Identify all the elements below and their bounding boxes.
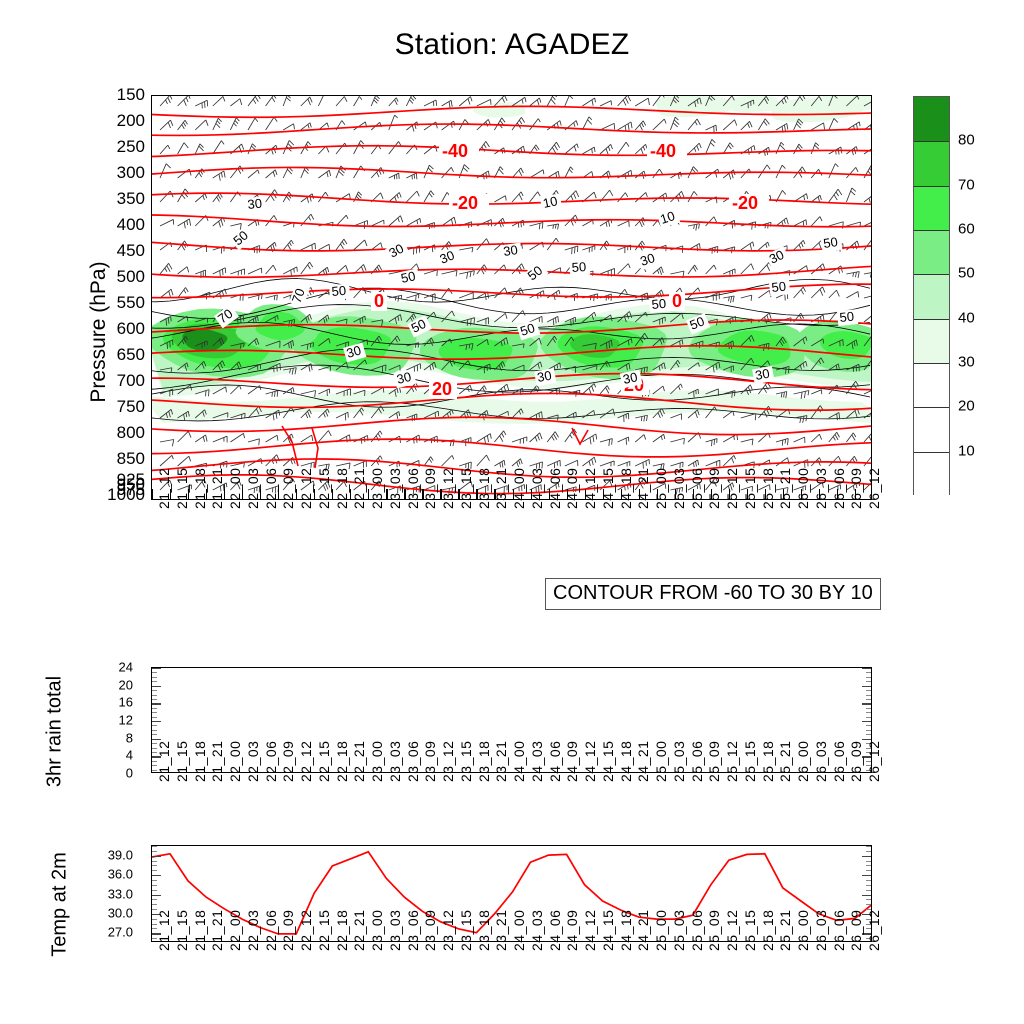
rain-tick xyxy=(152,725,157,726)
colorbar-segment xyxy=(914,141,949,185)
x-tick-label: 25_18 xyxy=(760,910,776,951)
svg-text:30: 30 xyxy=(536,368,553,385)
temp-tick-label: 36.0 xyxy=(108,867,133,882)
rain-tick xyxy=(866,672,871,673)
rain-y-axis: 24201612840 xyxy=(85,667,133,773)
x-tick-label: 21_15 xyxy=(174,910,190,951)
temp-tick xyxy=(862,895,871,896)
x-tick-label: 25_12 xyxy=(724,741,740,782)
x-tick-label: 25_09 xyxy=(706,741,722,782)
x-tick-label: 25_09 xyxy=(706,910,722,951)
x-tick-label: 24_18 xyxy=(618,910,634,951)
x-tick-label: 24_12 xyxy=(582,910,598,951)
svg-text:-20: -20 xyxy=(452,193,478,213)
svg-text:30: 30 xyxy=(247,196,263,212)
rain-tick xyxy=(152,699,157,700)
x-tick-label: 24_12 xyxy=(582,468,598,509)
x-tick-label: 24_00 xyxy=(511,468,527,509)
temp-tick xyxy=(152,865,157,866)
x-tick-label: 25_03 xyxy=(671,741,687,782)
rain-tick-label: 16 xyxy=(119,695,133,710)
x-tick-label: 24_06 xyxy=(547,468,563,509)
x-tick-label: 22_00 xyxy=(227,468,243,509)
temp-tick xyxy=(152,880,157,881)
x-tick-label: 21_18 xyxy=(192,468,208,509)
x-tick-label: 23_15 xyxy=(458,741,474,782)
page-title: Station: AGADEZ xyxy=(0,28,1024,62)
temp-tick xyxy=(866,904,871,905)
x-tick-label: 25_15 xyxy=(742,741,758,782)
colorbar-tick-label: 70 xyxy=(958,176,975,193)
svg-text:-40: -40 xyxy=(650,141,676,161)
x-tick-label: 22_06 xyxy=(263,910,279,951)
rain-tick xyxy=(866,725,871,726)
cross-section-svg: -40-40-20-200020203030305050505050707050… xyxy=(152,96,872,500)
temp-tick xyxy=(152,856,161,857)
x-tick-label: 26_00 xyxy=(795,468,811,509)
rain-tick xyxy=(152,686,161,687)
x-tick-label: 24_00 xyxy=(511,910,527,951)
x-tick-label: 23_06 xyxy=(405,910,421,951)
x-tick-label: 25_00 xyxy=(653,468,669,509)
temp-tick xyxy=(152,890,157,891)
x-tick-label: 22_03 xyxy=(245,741,261,782)
svg-text:50: 50 xyxy=(839,309,855,325)
svg-text:50: 50 xyxy=(651,296,667,312)
rain-tick xyxy=(866,734,871,735)
x-tick-label: 25_09 xyxy=(706,468,722,509)
colorbar-tick-label: 20 xyxy=(958,398,975,415)
temp-tick xyxy=(866,890,871,891)
temp-tick xyxy=(866,899,871,900)
temp-panel-label: Temp at 2m xyxy=(49,815,72,995)
x-tick-label: 24_18 xyxy=(618,468,634,509)
x-tick-label: 26_03 xyxy=(813,910,829,951)
x-tick-label: 24_21 xyxy=(635,741,651,782)
x-tick-label: 24_03 xyxy=(529,741,545,782)
x-tick-label: 22_00 xyxy=(227,741,243,782)
rain-tick xyxy=(862,703,871,704)
x-tick-label: 22_03 xyxy=(245,910,261,951)
temp-tick xyxy=(152,899,157,900)
temp-tick xyxy=(866,846,871,847)
x-tick-label: 22_09 xyxy=(280,468,296,509)
rain-tick xyxy=(866,695,871,696)
rain-tick xyxy=(152,721,161,722)
rain-panel-label: 3hr rain total xyxy=(44,622,67,842)
x-tick-label: 25_00 xyxy=(653,910,669,951)
rain-tick xyxy=(152,672,157,673)
x-tick-label: 21_15 xyxy=(174,741,190,782)
x-tick-label: 24_06 xyxy=(547,741,563,782)
x-tick-mark xyxy=(152,489,153,499)
x-tick-label: 23_21 xyxy=(493,910,509,951)
svg-text:30: 30 xyxy=(502,242,518,259)
x-tick-label: 23_00 xyxy=(369,910,385,951)
temp-tick xyxy=(152,861,157,862)
rain-tick-label: 8 xyxy=(126,730,133,745)
temp-tick xyxy=(866,865,871,866)
x-tick-label: 22_15 xyxy=(316,910,332,951)
x-tick-label: 22_18 xyxy=(334,468,350,509)
rain-tick xyxy=(866,690,871,691)
temp-tick xyxy=(866,870,871,871)
svg-text:50: 50 xyxy=(822,234,838,251)
rain-tick xyxy=(866,708,871,709)
temp-tick xyxy=(152,870,157,871)
x-tick-label: 23_21 xyxy=(493,741,509,782)
x-tick-label: 22_06 xyxy=(263,741,279,782)
x-tick-label: 24_21 xyxy=(635,468,651,509)
rain-tick xyxy=(866,681,871,682)
x-tick-label: 23_18 xyxy=(476,910,492,951)
x-tick-label: 22_12 xyxy=(298,741,314,782)
rain-tick xyxy=(866,717,871,718)
x-tick-label: 25_06 xyxy=(689,741,705,782)
x-tick-label: 24_06 xyxy=(547,910,563,951)
x-tick-label: 24_15 xyxy=(600,468,616,509)
x-tick-label: 26_00 xyxy=(795,910,811,951)
rain-tick xyxy=(152,668,161,669)
colorbar-segment xyxy=(914,407,949,451)
x-tick-label: 24_15 xyxy=(600,910,616,951)
svg-text:0: 0 xyxy=(374,291,384,311)
x-tick-label: 24_12 xyxy=(582,741,598,782)
temp-tick xyxy=(152,895,161,896)
temp-tick xyxy=(152,904,157,905)
x-tick-label: 25_15 xyxy=(742,910,758,951)
temp-tick xyxy=(152,885,157,886)
x-tick-label: 22_12 xyxy=(298,468,314,509)
x-tick-label: 26_09 xyxy=(848,741,864,782)
colorbar-segment xyxy=(914,97,949,141)
x-tick-label: 25_12 xyxy=(724,910,740,951)
rain-tick xyxy=(862,668,871,669)
x-tick-label: 22_18 xyxy=(334,741,350,782)
x-tick-label: 21_12 xyxy=(156,741,172,782)
temp-tick xyxy=(862,856,871,857)
x-tick-label: 22_21 xyxy=(351,741,367,782)
temp-tick-label: 39.0 xyxy=(108,847,133,862)
temp-x-axis: 21_1221_1521_1821_2122_0022_0322_0622_09… xyxy=(151,947,872,1017)
x-tick-label: 23_21 xyxy=(493,468,509,509)
x-tick-label: 23_15 xyxy=(458,910,474,951)
rain-tick xyxy=(866,712,871,713)
x-tick-label: 25_18 xyxy=(760,468,776,509)
rain-tick xyxy=(152,730,157,731)
x-tick-label: 26_12 xyxy=(866,468,882,509)
x-tick-label: 23_18 xyxy=(476,741,492,782)
main-y-axis-title-wrap: Pressure (hPa) xyxy=(60,95,145,500)
rain-tick xyxy=(152,677,157,678)
contour-legend: CONTOUR FROM -60 TO 30 BY 10 xyxy=(545,578,881,610)
x-tick-label: 26_12 xyxy=(866,741,882,782)
x-tick-label: 22_21 xyxy=(351,468,367,509)
x-tick-label: 24_09 xyxy=(564,741,580,782)
x-tick-label: 25_03 xyxy=(671,468,687,509)
colorbar-tick-label: 60 xyxy=(958,221,975,238)
x-tick-label: 22_21 xyxy=(351,910,367,951)
x-tick-label: 22_03 xyxy=(245,468,261,509)
main-x-axis: 21_1221_1521_1821_2122_0022_0322_0622_09… xyxy=(151,505,872,575)
rain-tick xyxy=(152,695,157,696)
temp-tick xyxy=(152,875,161,876)
x-tick-label: 24_18 xyxy=(618,741,634,782)
x-tick-label: 23_06 xyxy=(405,468,421,509)
x-tick-label: 23_00 xyxy=(369,468,385,509)
x-tick-label: 23_03 xyxy=(387,741,403,782)
colorbar-segment xyxy=(914,452,949,496)
x-tick-label: 26_00 xyxy=(795,741,811,782)
x-tick-label: 25_06 xyxy=(689,468,705,509)
rain-tick xyxy=(152,734,157,735)
x-tick-label: 26_09 xyxy=(848,910,864,951)
x-tick-label: 25_18 xyxy=(760,741,776,782)
svg-text:20: 20 xyxy=(432,379,452,399)
temp-tick xyxy=(866,851,871,852)
rain-tick-label: 24 xyxy=(119,660,133,675)
x-tick-label: 25_21 xyxy=(777,468,793,509)
temp-tick xyxy=(866,861,871,862)
rain-tick xyxy=(152,712,157,713)
x-tick-label: 24_03 xyxy=(529,910,545,951)
rain-tick-label: 0 xyxy=(126,766,133,781)
colorbar-segment xyxy=(914,363,949,407)
x-tick-label: 24_21 xyxy=(635,910,651,951)
x-tick-label: 23_15 xyxy=(458,468,474,509)
svg-text:50: 50 xyxy=(331,283,347,299)
x-tick-label: 22_09 xyxy=(280,741,296,782)
colorbar-segment xyxy=(914,319,949,363)
x-tick-label: 25_21 xyxy=(777,741,793,782)
colorbar-segment xyxy=(914,230,949,274)
y-axis-title: Pressure (hPa) xyxy=(87,187,111,477)
x-tick-label: 26_12 xyxy=(866,910,882,951)
x-tick-label: 25_00 xyxy=(653,741,669,782)
rain-tick-label: 12 xyxy=(119,713,133,728)
rain-x-axis: 21_1221_1521_1821_2122_0022_0322_0622_09… xyxy=(151,778,872,848)
svg-text:30: 30 xyxy=(622,369,639,387)
rain-tick xyxy=(866,677,871,678)
x-tick-label: 21_18 xyxy=(192,910,208,951)
x-tick-label: 23_03 xyxy=(387,468,403,509)
x-tick-label: 26_06 xyxy=(831,468,847,509)
x-tick-label: 22_18 xyxy=(334,910,350,951)
x-tick-label: 21_21 xyxy=(209,910,225,951)
temp-tick xyxy=(866,885,871,886)
rain-tick xyxy=(152,717,157,718)
x-tick-label: 25_06 xyxy=(689,910,705,951)
x-tick-label: 25_03 xyxy=(671,910,687,951)
temp-tick-label: 27.0 xyxy=(108,925,133,940)
rain-tick xyxy=(862,721,871,722)
colorbar-tick-label: 30 xyxy=(958,354,975,371)
x-tick-label: 22_09 xyxy=(280,910,296,951)
x-tick-label: 24_09 xyxy=(564,910,580,951)
x-tick-label: 25_12 xyxy=(724,468,740,509)
x-tick-label: 22_12 xyxy=(298,910,314,951)
svg-text:50: 50 xyxy=(400,268,417,286)
x-tick-label: 23_18 xyxy=(476,468,492,509)
x-tick-label: 26_03 xyxy=(813,741,829,782)
rain-tick xyxy=(152,703,161,704)
x-tick-label: 23_09 xyxy=(422,741,438,782)
upper-air-cross-section-plot[interactable]: -40-40-20-200020203030305050505050707050… xyxy=(151,95,872,500)
x-tick-label: 25_21 xyxy=(777,910,793,951)
x-tick-label: 26_09 xyxy=(848,468,864,509)
rain-tick-label: 4 xyxy=(126,748,133,763)
rain-tick-label: 20 xyxy=(119,677,133,692)
x-tick-label: 22_15 xyxy=(316,468,332,509)
temp-tick xyxy=(152,851,157,852)
colorbar-tick-label: 10 xyxy=(958,442,975,459)
colorbar-tick-label: 50 xyxy=(958,265,975,282)
x-tick-label: 23_06 xyxy=(405,741,421,782)
x-tick-label: 23_03 xyxy=(387,910,403,951)
svg-text:0: 0 xyxy=(672,291,682,311)
x-tick-label: 23_12 xyxy=(440,910,456,951)
x-tick-label: 21_21 xyxy=(209,468,225,509)
svg-text:-40: -40 xyxy=(442,141,468,161)
x-tick-label: 21_12 xyxy=(156,910,172,951)
x-tick-label: 26_06 xyxy=(831,741,847,782)
colorbar-segment xyxy=(914,186,949,230)
x-tick-label: 23_00 xyxy=(369,741,385,782)
colorbar-segment xyxy=(914,274,949,318)
x-tick-label: 22_06 xyxy=(263,468,279,509)
x-tick-label: 23_12 xyxy=(440,741,456,782)
x-tick-label: 21_15 xyxy=(174,468,190,509)
colorbar-tick-label: 40 xyxy=(958,309,975,326)
x-tick-label: 25_15 xyxy=(742,468,758,509)
rain-tick xyxy=(866,730,871,731)
temp-tick xyxy=(862,875,871,876)
x-tick-label: 23_09 xyxy=(422,468,438,509)
temp-tick-label: 30.0 xyxy=(108,905,133,920)
temp-tick xyxy=(866,880,871,881)
x-tick-label: 24_03 xyxy=(529,468,545,509)
x-tick-label: 23_12 xyxy=(440,468,456,509)
svg-text:-20: -20 xyxy=(732,193,758,213)
svg-text:50: 50 xyxy=(771,279,787,295)
svg-text:30: 30 xyxy=(754,366,771,383)
x-tick-label: 24_09 xyxy=(564,468,580,509)
temp-tick xyxy=(152,846,157,847)
x-tick-label: 21_18 xyxy=(192,741,208,782)
x-tick-label: 26_06 xyxy=(831,910,847,951)
x-tick-label: 24_00 xyxy=(511,741,527,782)
svg-text:50: 50 xyxy=(571,259,586,275)
svg-text:10: 10 xyxy=(542,193,559,211)
x-tick-label: 21_21 xyxy=(209,741,225,782)
x-tick-label: 22_15 xyxy=(316,741,332,782)
x-tick-label: 22_00 xyxy=(227,910,243,951)
x-tick-label: 26_03 xyxy=(813,468,829,509)
colorbar-tick-label: 80 xyxy=(958,132,975,149)
temp-tick-label: 33.0 xyxy=(108,886,133,901)
rain-tick xyxy=(866,699,871,700)
x-tick-label: 21_12 xyxy=(156,468,172,509)
rain-tick xyxy=(152,690,157,691)
rain-tick xyxy=(862,686,871,687)
x-tick-label: 24_15 xyxy=(600,741,616,782)
rain-tick xyxy=(152,681,157,682)
rain-tick xyxy=(152,708,157,709)
x-tick-label: 23_09 xyxy=(422,910,438,951)
humidity-colorbar xyxy=(913,96,950,495)
temp-y-axis: 39.036.033.030.027.0 xyxy=(85,845,133,942)
